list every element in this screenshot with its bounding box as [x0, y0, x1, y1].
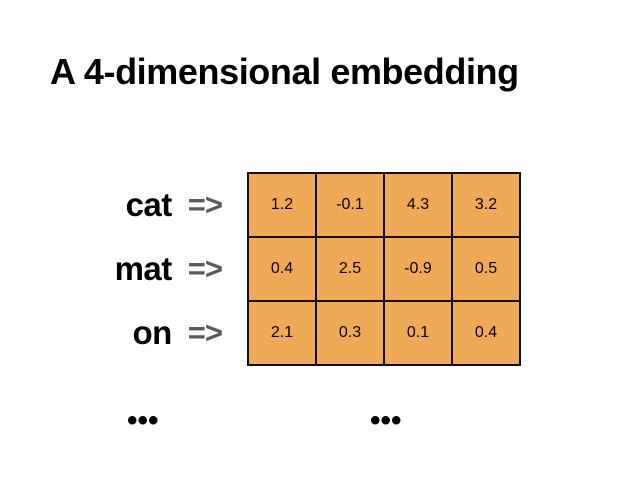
matrix-cell: 3.2	[452, 173, 520, 237]
arrow-icon-on: =>	[188, 317, 222, 348]
page-title: A 4-dimensional embedding	[50, 50, 610, 94]
row-word-on: on	[132, 316, 171, 349]
matrix-cell: 0.1	[384, 301, 452, 365]
row-label-mat: mat =>	[30, 236, 222, 300]
row-word-cat: cat	[126, 188, 172, 221]
ellipsis-vectors: •••	[370, 414, 402, 428]
matrix-cell: 2.5	[316, 237, 384, 301]
arrow-icon-mat: =>	[188, 253, 222, 284]
matrix-cell: -0.9	[384, 237, 452, 301]
row-label-column: cat => mat => on =>	[30, 172, 222, 365]
matrix-cell: 4.3	[384, 173, 452, 237]
embedding-matrix: 1.2 -0.1 4.3 3.2 0.4 2.5 -0.9 0.5 2.1 0.…	[247, 172, 521, 366]
matrix-cell: 0.3	[316, 301, 384, 365]
matrix-cell: 0.4	[248, 237, 316, 301]
matrix-cell: 0.5	[452, 237, 520, 301]
matrix-cell: 1.2	[248, 173, 316, 237]
matrix-cell: -0.1	[316, 173, 384, 237]
matrix-cell: 0.4	[452, 301, 520, 365]
matrix-cell: 2.1	[248, 301, 316, 365]
ellipsis-words: •••	[127, 414, 159, 428]
row-word-mat: mat	[115, 252, 172, 285]
table-row: 1.2 -0.1 4.3 3.2	[248, 173, 520, 237]
arrow-icon-cat: =>	[188, 189, 222, 220]
row-label-cat: cat =>	[30, 172, 222, 236]
row-label-on: on =>	[30, 300, 222, 364]
embedding-figure: cat => mat => on => 1.2 -0.1 4.3 3.2 0.4…	[0, 172, 638, 365]
table-row: 2.1 0.3 0.1 0.4	[248, 301, 520, 365]
table-row: 0.4 2.5 -0.9 0.5	[248, 237, 520, 301]
